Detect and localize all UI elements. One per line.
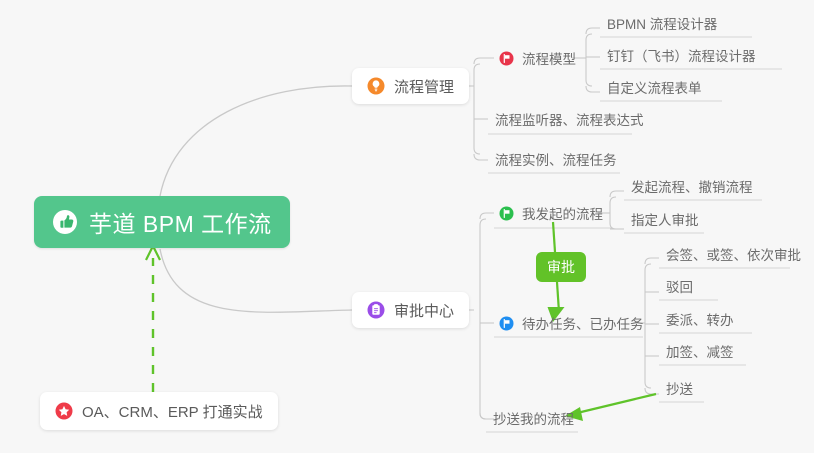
node-process-listener-expression[interactable]: 流程监听器、流程表达式: [488, 105, 651, 133]
node-label: OA、CRM、ERP 打通实战: [82, 401, 263, 422]
node-label: 流程监听器、流程表达式: [495, 109, 644, 129]
root-label: 芋道 BPM 工作流: [89, 205, 272, 239]
branch-label: 流程管理: [394, 76, 454, 97]
flag-icon-red: [499, 51, 514, 66]
thumbs-up-icon: [52, 209, 78, 235]
root-node[interactable]: 芋道 BPM 工作流: [34, 196, 290, 248]
edge-model-child-3: [586, 86, 600, 92]
node-label: 我发起的流程: [522, 203, 603, 223]
node-label: 驳回: [666, 276, 693, 296]
node-label: 流程实例、流程任务: [495, 149, 617, 169]
lightbulb-icon: [367, 77, 385, 95]
arrow-integration-head: [146, 246, 160, 260]
edge-todo-child-5: [645, 388, 659, 394]
edge-todo-child-1: [645, 258, 659, 264]
star-icon: [55, 402, 73, 420]
node-add-remove-sign[interactable]: 加签、减签: [659, 337, 741, 365]
node-process-instance-task[interactable]: 流程实例、流程任务: [488, 145, 624, 173]
flag-icon-green: [499, 206, 514, 221]
clipboard-icon: [367, 301, 385, 319]
node-label: 待办任务、已办任务: [522, 313, 644, 333]
approval-badge-label: 审批: [547, 257, 575, 277]
edge-pm-vertical: [474, 64, 480, 154]
edge-initiated-vertical: [610, 197, 616, 229]
node-label: 流程模型: [522, 48, 576, 68]
node-custom-process-form[interactable]: 自定义流程表单: [600, 73, 709, 101]
node-label: 加签、减签: [666, 341, 734, 361]
node-start-cancel-process[interactable]: 发起流程、撤销流程: [624, 172, 760, 200]
node-label: BPMN 流程设计器: [607, 13, 717, 33]
node-reject[interactable]: 驳回: [659, 272, 700, 300]
node-label: 指定人审批: [631, 209, 699, 229]
edge-approval-vertical: [480, 219, 486, 419]
edge-root-to-process-management: [160, 86, 352, 196]
node-process-model[interactable]: 流程模型: [492, 44, 583, 72]
node-label: 抄送我的流程: [493, 408, 574, 428]
mindmap-canvas: 芋道 BPM 工作流 流程管理 流程模型 流程监听器、流程表达式 流程实例、流: [0, 0, 814, 453]
edge-model-child-1: [586, 28, 600, 34]
edge-model-vertical: [586, 34, 592, 86]
node-my-initiated-process[interactable]: 我发起的流程: [492, 199, 610, 227]
branch-label: 审批中心: [394, 300, 454, 321]
node-bpmn-designer[interactable]: BPMN 流程设计器: [600, 9, 724, 37]
node-countersign[interactable]: 会签、或签、依次审批: [659, 240, 808, 268]
node-oa-crm-erp[interactable]: OA、CRM、ERP 打通实战: [40, 392, 278, 430]
edge-initiated-child-1: [610, 191, 624, 197]
node-label: 自定义流程表单: [607, 77, 702, 97]
branch-process-management[interactable]: 流程管理: [352, 68, 469, 104]
node-label: 会签、或签、依次审批: [666, 244, 801, 264]
edge-root-to-approval-center: [160, 249, 352, 312]
node-cc[interactable]: 抄送: [659, 374, 700, 402]
node-label: 抄送: [666, 378, 693, 398]
edge-pm-child-model: [474, 58, 494, 64]
flag-icon-blue: [499, 316, 514, 331]
node-todo-done-tasks[interactable]: 待办任务、已办任务: [492, 309, 651, 337]
node-assignee-approval[interactable]: 指定人审批: [624, 205, 706, 233]
node-cc-to-me-process[interactable]: 抄送我的流程: [486, 404, 581, 432]
node-dingtalk-feishu-designer[interactable]: 钉钉（飞书）流程设计器: [600, 41, 763, 69]
edge-pm-child-instance: [474, 154, 488, 160]
approval-badge[interactable]: 审批: [536, 252, 586, 282]
branch-approval-center[interactable]: 审批中心: [352, 292, 469, 328]
node-label: 委派、转办: [666, 309, 734, 329]
node-label: 发起流程、撤销流程: [631, 176, 753, 196]
arrow-cc-to-me: [577, 394, 656, 413]
node-label: 钉钉（飞书）流程设计器: [607, 45, 756, 65]
node-delegate-transfer[interactable]: 委派、转办: [659, 305, 741, 333]
